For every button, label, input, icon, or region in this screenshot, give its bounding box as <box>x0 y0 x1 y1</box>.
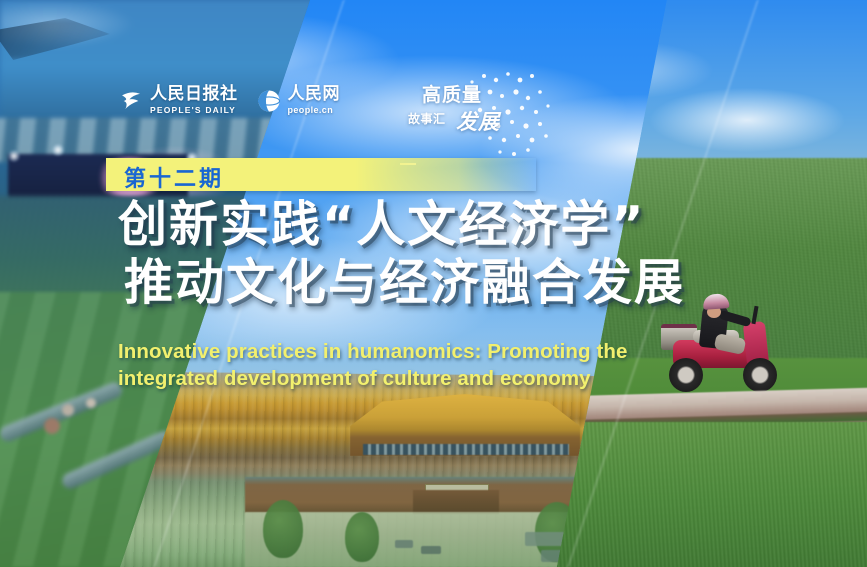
headline-line-1: 创新实践“人文经济学” <box>118 196 818 254</box>
episode-badge-label: 第十二期 <box>124 161 224 193</box>
emblem-tagline: 故事汇 <box>408 110 446 127</box>
headline-line-2: 推动文化与经济融合发展 <box>124 254 818 312</box>
headline: 创新实践“人文经济学” 推动文化与经济融合发展 <box>118 196 818 312</box>
stage-lamp <box>8 150 20 162</box>
peoples-daily-name-en: PEOPLE'S DAILY <box>150 106 238 115</box>
rice-field-lower <box>551 422 867 567</box>
peoples-daily-logo[interactable]: 人民日报社 PEOPLE'S DAILY <box>118 86 238 115</box>
people-cn-name-en: people.cn <box>288 106 341 115</box>
field-object <box>44 418 60 434</box>
peoples-daily-name-cn: 人民日报社 <box>150 86 238 103</box>
program-emblem: 高质量 发展 故事汇 <box>398 62 558 162</box>
subtitle-line-2: integrated development of culture and ec… <box>118 365 758 392</box>
emblem-line-top: 高质量 <box>422 80 482 107</box>
publisher-logos: 人民日报社 PEOPLE'S DAILY 人民网 people.cn <box>118 86 340 115</box>
people-cn-logo[interactable]: 人民网 people.cn <box>256 86 341 115</box>
field-object <box>86 398 96 408</box>
poster-banner: 人民日报社 PEOPLE'S DAILY 人民网 people.cn <box>0 0 867 567</box>
emblem-line-bottom: 发展 <box>456 106 500 136</box>
subtitle: Innovative practices in humanomics: Prom… <box>118 338 758 392</box>
stage-lamp <box>52 144 64 156</box>
people-cn-globe-icon <box>256 88 282 114</box>
field-object <box>62 404 74 416</box>
peoples-daily-swirl-icon <box>118 88 144 114</box>
people-cn-name-cn: 人民网 <box>288 86 341 103</box>
subtitle-line-1: Innovative practices in humanomics: Prom… <box>118 338 758 365</box>
